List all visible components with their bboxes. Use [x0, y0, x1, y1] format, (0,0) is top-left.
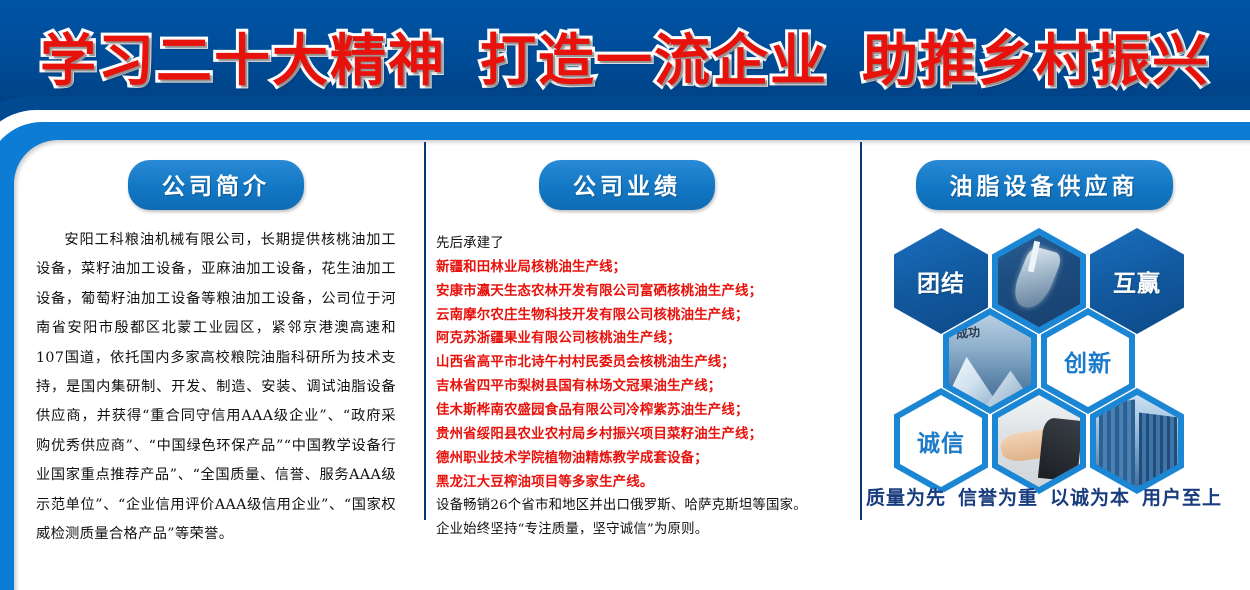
hex-label: 团结 — [917, 264, 965, 298]
hex-inner-surface: 创新 — [1047, 315, 1129, 407]
header-title-part-1: 学习二十大精神 — [40, 16, 446, 97]
performance-project-item: 阿克苏浙疆果业有限公司核桃油生产线； — [436, 327, 820, 351]
handshake-image — [998, 395, 1080, 487]
aircraft-carrier-image — [998, 235, 1080, 327]
performance-project-item: 安康市瀛天生态农林开发有限公司富硒核桃油生产线； — [436, 280, 820, 304]
panel-title-supplier: 油脂设备供应商 — [916, 160, 1173, 210]
performance-text-block: 先后承建了 新疆和田林业局核桃油生产线； 安康市瀛天生态农林开发有限公司富硒核桃… — [436, 232, 820, 542]
performance-project-item: 贵州省绥阳县农业农村局乡村振兴项目菜籽油生产线； — [436, 423, 820, 447]
building-icon — [1096, 395, 1178, 487]
supplier-motto: 质量为先信誉为重以诚为本用户至上 — [838, 483, 1250, 510]
panels-container: 公司简介 安阳工科粮油机械有限公司，长期提供核桃油加工设备，菜籽油加工设备，亚麻… — [16, 142, 1250, 520]
mountain-success-image: 成功 — [949, 315, 1031, 407]
skyscraper-image — [1096, 395, 1178, 487]
hex-label: 创新 — [1064, 344, 1112, 378]
motto-part: 以诚为本 — [1050, 487, 1130, 509]
panel-oil-equipment-supplier: 油脂设备供应商 团结 互赢 — [838, 142, 1250, 520]
hex-label: 互赢 — [1113, 264, 1161, 298]
handshake-icon — [998, 395, 1080, 487]
hex-label: 诚信 — [917, 424, 965, 458]
panel-title-company-performance: 公司业绩 — [539, 160, 715, 210]
panel-title-company-profile: 公司简介 — [128, 160, 304, 210]
performance-project-item: 云南摩尔农庄生物科技开发有限公司核桃油生产线； — [436, 304, 820, 328]
performance-project-item: 吉林省四平市梨树县国有林场文冠果油生产线； — [436, 375, 820, 399]
panel-company-performance: 公司业绩 先后承建了 新疆和田林业局核桃油生产线； 安康市瀛天生态农林开发有限公… — [416, 142, 838, 520]
performance-footer-line: 设备畅销26个省市和地区并出口俄罗斯、哈萨克斯坦等国家。 — [436, 494, 820, 518]
company-profile-text: 安阳工科粮油机械有限公司，长期提供核桃油加工设备，菜籽油加工设备，亚麻油加工设备… — [36, 226, 396, 549]
performance-project-item: 新疆和田林业局核桃油生产线； — [436, 256, 820, 280]
motto-part: 用户至上 — [1142, 487, 1222, 509]
performance-project-item: 黑龙江大豆榨油项目等多家生产线。 — [436, 471, 820, 495]
hexagon-cluster: 团结 互赢 成功 — [852, 222, 1236, 472]
panel-divider-1 — [424, 142, 426, 520]
photo-caption: 成功 — [955, 323, 981, 342]
ship-icon — [998, 235, 1080, 327]
header-title-part-2: 打造一流企业 — [480, 16, 828, 97]
motto-part: 信誉为重 — [958, 487, 1038, 509]
mountain-icon: 成功 — [949, 315, 1031, 407]
header-title: 学习二十大精神 打造一流企业 助推乡村振兴 — [0, 0, 1250, 112]
motto-part: 质量为先 — [866, 487, 946, 509]
header-title-part-3: 助推乡村振兴 — [862, 16, 1210, 97]
panel-divider-2 — [860, 142, 862, 520]
display-board: 学习二十大精神 打造一流企业 助推乡村振兴 公司简介 安阳工科粮油机械有限公司，… — [0, 0, 1250, 590]
performance-project-item: 佳木斯桦南农盛园食品有限公司冷榨紫苏油生产线； — [436, 399, 820, 423]
hex-inner-surface: 诚信 — [900, 395, 982, 487]
performance-intro: 先后承建了 — [436, 232, 820, 256]
performance-footer-line: 企业始终坚持“专注质量，坚守诚信”为原则。 — [436, 518, 820, 542]
performance-project-item: 德州职业技术学院植物油精炼教学成套设备； — [436, 447, 820, 471]
panel-company-profile: 公司简介 安阳工科粮油机械有限公司，长期提供核桃油加工设备，菜籽油加工设备，亚麻… — [16, 142, 416, 520]
performance-project-item: 山西省高平市北诗午村村民委员会核桃油生产线； — [436, 351, 820, 375]
